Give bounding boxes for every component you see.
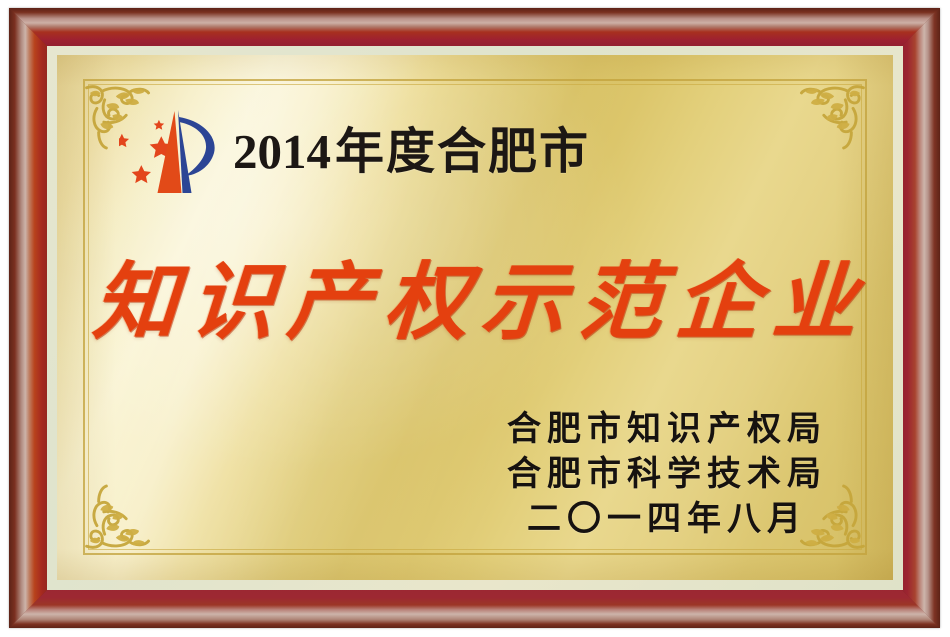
award-plaque: 2014年度合肥市 知识产权示范企业 合肥市知识产权局 合肥市科学技术局 二〇一… <box>0 0 950 637</box>
hefei-ip-logo-icon <box>119 103 221 199</box>
plaque-header-text: 年度合肥市 <box>335 124 590 179</box>
plaque-header-line: 2014年度合肥市 <box>233 127 590 176</box>
issuer-line-1: 合肥市知识产权局 <box>501 407 827 452</box>
issuer-line-2: 合肥市科学技术局 <box>501 452 827 497</box>
issuer-block: 合肥市知识产权局 合肥市科学技术局 二〇一四年八月 <box>501 407 827 543</box>
issuer-date: 二〇一四年八月 <box>501 497 827 542</box>
plaque-header: 2014年度合肥市 <box>119 103 590 199</box>
plaque-content: 2014年度合肥市 知识产权示范企业 合肥市知识产权局 合肥市科学技术局 二〇一… <box>57 55 893 580</box>
plaque-header-year: 2014 <box>233 124 335 179</box>
gold-plate: 2014年度合肥市 知识产权示范企业 合肥市知识产权局 合肥市科学技术局 二〇一… <box>57 55 893 580</box>
award-title: 知识产权示范企业 <box>57 260 893 344</box>
